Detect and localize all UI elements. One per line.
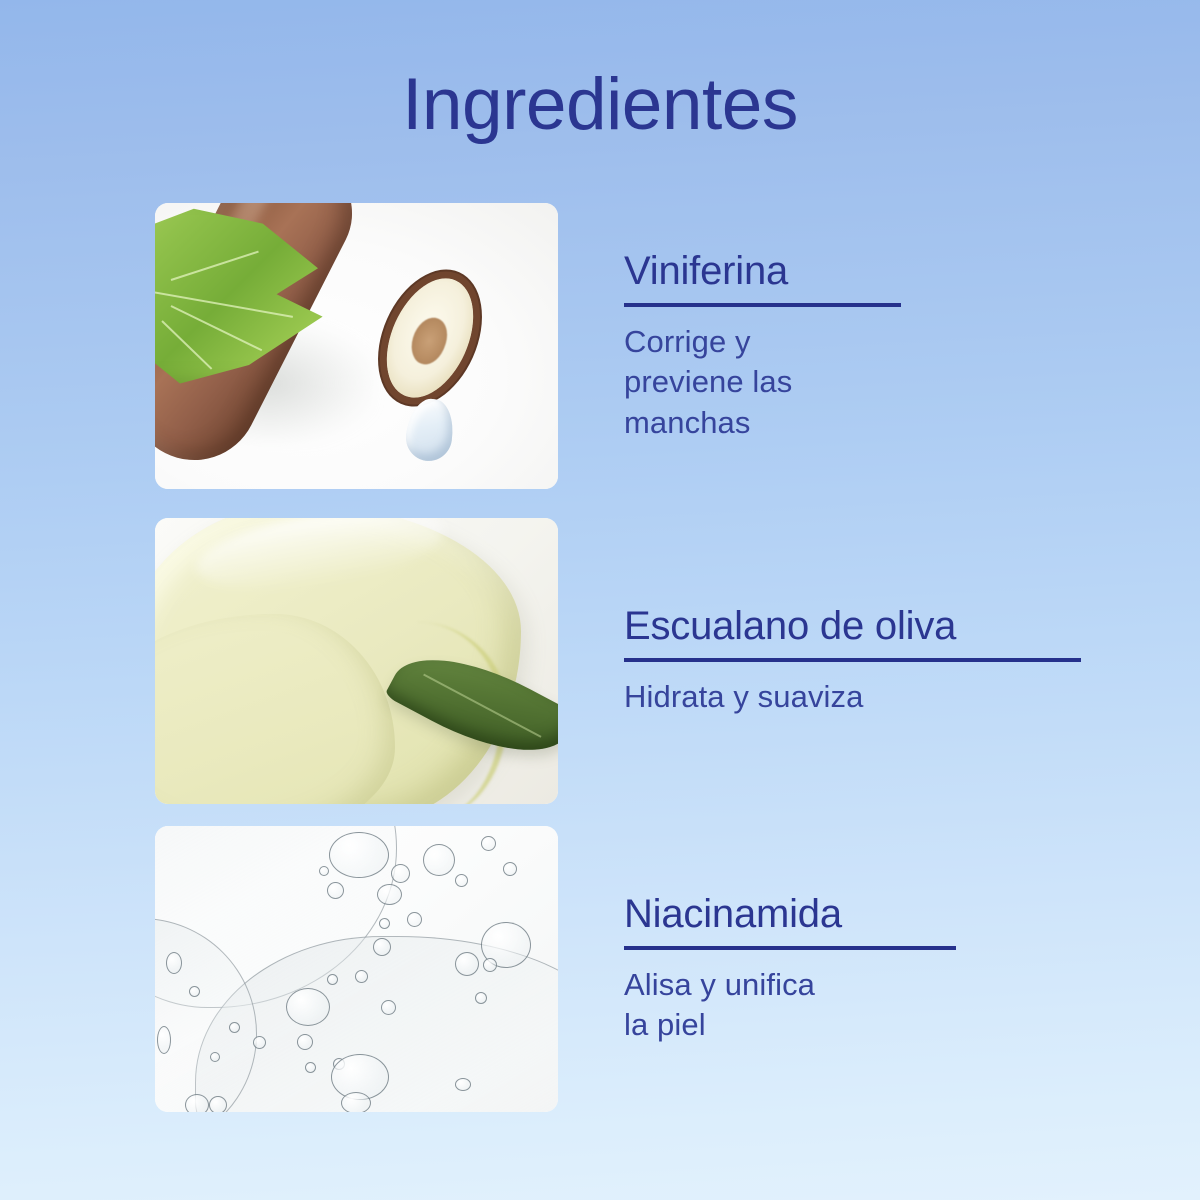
ingredient-text-block: Niacinamida Alisa y unifica la piel [624, 826, 1155, 1112]
viniferina-photo-scene [155, 203, 558, 489]
ingredient-text-block: Escualano de oliva Hidrata y suaviza [624, 518, 1155, 804]
gel-bubble [229, 1022, 240, 1033]
gel-bubble [327, 974, 338, 985]
gel-bubble [209, 1096, 227, 1112]
stem-cut-face-shape [370, 265, 491, 411]
ingredient-name: Escualano de oliva [624, 604, 1155, 649]
ingredient-name-divider [624, 658, 1081, 662]
gel-bubble [166, 952, 182, 974]
ingredient-text-block: Viniferina Corrige y previene las mancha… [624, 203, 1155, 489]
gel-bubble [455, 874, 468, 887]
gel-bubble [157, 1026, 171, 1054]
gel-bubble [373, 938, 391, 956]
leaf-vein [170, 306, 262, 352]
gel-bubble [327, 882, 344, 899]
gel-bubble [481, 836, 496, 851]
gel-bubble [355, 970, 368, 983]
niacinamida-photo-scene [155, 826, 558, 1112]
escualano-photo-scene [155, 518, 558, 804]
gel-bubble [379, 918, 390, 929]
ingredient-name-divider [624, 303, 901, 307]
gel-bubble [423, 844, 455, 876]
gel-bubble [286, 988, 330, 1026]
gel-bubble [381, 1000, 396, 1015]
page-title: Ingredientes [0, 68, 1200, 141]
ingredient-name: Viniferina [624, 249, 1155, 294]
gel-bubble [210, 1052, 220, 1062]
ingredient-description: Corrige y previene las manchas [624, 322, 1155, 443]
gel-bubble [503, 862, 517, 876]
gel-bubble [329, 832, 389, 878]
ingredient-name-divider [624, 946, 956, 950]
gel-bubble [391, 864, 410, 883]
viniferina-photo [155, 203, 558, 489]
leaf-vein [170, 251, 258, 281]
gel-bubble [455, 952, 479, 976]
gel-bubble [341, 1092, 371, 1112]
gel-bubble [483, 958, 497, 972]
ingredient-description: Alisa y unifica la piel [624, 965, 1155, 1046]
gel-bubble [455, 1078, 471, 1091]
gel-bubble [377, 884, 402, 905]
leaf-vein [161, 321, 212, 370]
gel-bubble [253, 1036, 266, 1049]
escualano-photo [155, 518, 558, 804]
leaf-vein [155, 291, 293, 318]
ingredient-name: Niacinamida [624, 892, 1155, 937]
gel-bubble [185, 1094, 209, 1112]
water-droplet-shape [403, 396, 457, 464]
ingredients-poster: Ingredientes Viniferina C [0, 0, 1200, 1200]
ingredient-row: Niacinamida Alisa y unifica la piel [155, 826, 1155, 1112]
gel-bubble [305, 1062, 316, 1073]
niacinamida-photo [155, 826, 558, 1112]
ingredient-description: Hidrata y suaviza [624, 677, 1155, 717]
ingredient-row: Escualano de oliva Hidrata y suaviza [155, 518, 1155, 804]
gel-bubble [319, 866, 329, 876]
ingredient-row: Viniferina Corrige y previene las mancha… [155, 203, 1155, 489]
gel-bubble [407, 912, 422, 927]
gel-bubble [189, 986, 200, 997]
stem-core-shape [404, 312, 454, 369]
gel-bubble [297, 1034, 313, 1050]
gel-bubble [475, 992, 487, 1004]
